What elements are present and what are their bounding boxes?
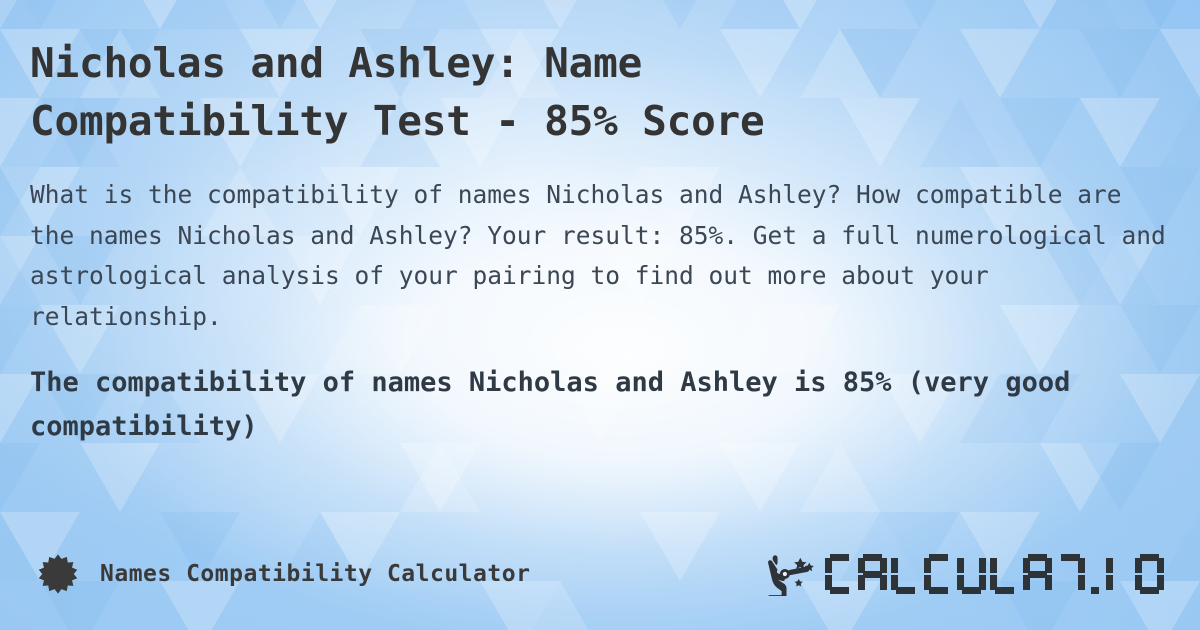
logo-letter-l2 xyxy=(990,554,1019,594)
logo-letter-o xyxy=(1135,554,1164,594)
logo-letter-a2 xyxy=(1023,554,1052,594)
share-card: Nicholas and Ashley: Name Compatibility … xyxy=(0,0,1200,630)
logo-letter-c2 xyxy=(924,554,953,594)
logo-letter-t xyxy=(1056,554,1085,594)
magic-wand-hand-icon xyxy=(767,552,819,596)
logo-letter-dot xyxy=(1089,554,1102,594)
page-description: What is the compatibility of names Nicho… xyxy=(30,175,1170,337)
brand-block: Names Compatibility Calculator xyxy=(38,554,530,594)
calculatio-logo[interactable] xyxy=(767,552,1164,596)
page-title: Nicholas and Ashley: Name Compatibility … xyxy=(30,34,830,150)
logo-letter-a xyxy=(858,554,887,594)
logo-letter-l1 xyxy=(891,554,920,594)
logo-letter-u xyxy=(957,554,986,594)
brand-label: Names Compatibility Calculator xyxy=(100,561,530,587)
compatibility-result-text: The compatibility of names Nicholas and … xyxy=(30,361,1170,448)
card-footer: Names Compatibility Calculator xyxy=(0,518,1200,630)
logo-letter-i xyxy=(1106,554,1131,594)
logo-letter-c xyxy=(825,554,854,594)
starburst-icon xyxy=(38,554,78,594)
calculatio-logo-text xyxy=(825,554,1164,594)
